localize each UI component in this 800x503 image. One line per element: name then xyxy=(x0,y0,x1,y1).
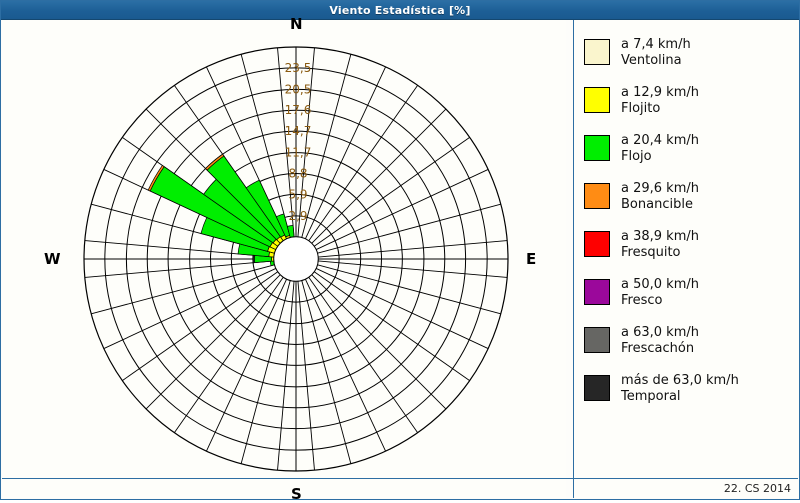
radial-tick-label: 8,8 xyxy=(288,166,307,180)
legend-label: a 29,6 km/hBonancible xyxy=(621,181,699,213)
legend-item[interactable]: a 38,9 km/hFresquito xyxy=(584,229,799,267)
radial-tick-label: 5,9 xyxy=(288,187,307,201)
legend-color-swatch xyxy=(584,279,610,305)
legend: a 7,4 km/hVentolinaa 12,9 km/hFlojitoa 2… xyxy=(573,20,799,498)
legend-speed-label: a 29,6 km/h xyxy=(621,181,699,196)
legend-color-swatch xyxy=(584,39,610,65)
legend-name-label: Fresco xyxy=(621,293,699,309)
window-title: Viento Estadística [%] xyxy=(329,4,470,17)
wind-rose-plot-panel: 2,95,98,811,714,717,620,523,5 N E S W xyxy=(2,20,566,498)
legend-speed-label: a 50,0 km/h xyxy=(621,277,699,292)
radial-tick-label: 23,5 xyxy=(285,61,312,75)
legend-name-label: Ventolina xyxy=(621,53,691,69)
legend-label: más de 63,0 km/hTemporal xyxy=(621,373,739,405)
legend-label: a 63,0 km/hFrescachón xyxy=(621,325,699,357)
legend-speed-label: a 63,0 km/h xyxy=(621,325,699,340)
legend-label: a 7,4 km/hVentolina xyxy=(621,37,691,69)
legend-label: a 50,0 km/hFresco xyxy=(621,277,699,309)
legend-label: a 20,4 km/hFlojo xyxy=(621,133,699,165)
footer-credit: 22. CS 2014 xyxy=(724,482,791,495)
legend-item[interactable]: más de 63,0 km/hTemporal xyxy=(584,373,799,411)
radial-tick-labels: 2,95,98,811,714,717,620,523,5 xyxy=(285,61,312,223)
footer-divider xyxy=(2,478,798,479)
wind-rose-wedge xyxy=(253,255,255,263)
legend-name-label: Flojito xyxy=(621,101,699,117)
legend-speed-label: a 20,4 km/h xyxy=(621,133,699,148)
wind-rose-window: Viento Estadística [%] 2,95,98,811,714,7… xyxy=(0,0,800,500)
legend-name-label: Flojo xyxy=(621,149,699,165)
radial-tick-label: 2,9 xyxy=(288,209,307,223)
legend-name-label: Fresquito xyxy=(621,245,699,261)
legend-item[interactable]: a 20,4 km/hFlojo xyxy=(584,133,799,171)
legend-color-swatch xyxy=(584,231,610,257)
compass-label-north: N xyxy=(290,15,303,33)
legend-name-label: Frescachón xyxy=(621,341,699,357)
wind-rose-chart: 2,95,98,811,714,717,620,523,5 xyxy=(2,20,566,498)
legend-item[interactable]: a 7,4 km/hVentolina xyxy=(584,37,799,75)
legend-color-swatch xyxy=(584,135,610,161)
legend-speed-label: más de 63,0 km/h xyxy=(621,373,739,388)
compass-label-east: E xyxy=(526,250,536,268)
legend-item[interactable]: a 50,0 km/hFresco xyxy=(584,277,799,315)
legend-name-label: Bonancible xyxy=(621,197,699,213)
legend-item[interactable]: a 12,9 km/hFlojito xyxy=(584,85,799,123)
radial-tick-label: 11,7 xyxy=(285,146,312,160)
legend-label: a 38,9 km/hFresquito xyxy=(621,229,699,261)
legend-color-swatch xyxy=(584,327,610,353)
legend-speed-label: a 7,4 km/h xyxy=(621,37,691,52)
legend-name-label: Temporal xyxy=(621,389,739,405)
legend-color-swatch xyxy=(584,375,610,401)
legend-speed-label: a 12,9 km/h xyxy=(621,85,699,100)
radial-tick-label: 17,6 xyxy=(285,103,312,117)
legend-item[interactable]: a 29,6 km/hBonancible xyxy=(584,181,799,219)
radial-tick-label: 20,5 xyxy=(285,82,312,96)
calm-center-hole xyxy=(274,237,319,282)
legend-label: a 12,9 km/hFlojito xyxy=(621,85,699,117)
window-title-bar: Viento Estadística [%] xyxy=(1,1,799,20)
compass-label-south: S xyxy=(291,485,302,503)
legend-color-swatch xyxy=(584,183,610,209)
legend-color-swatch xyxy=(584,87,610,113)
radial-tick-label: 14,7 xyxy=(285,124,312,138)
compass-label-west: W xyxy=(44,250,61,268)
legend-speed-label: a 38,9 km/h xyxy=(621,229,699,244)
legend-item[interactable]: a 63,0 km/hFrescachón xyxy=(584,325,799,363)
